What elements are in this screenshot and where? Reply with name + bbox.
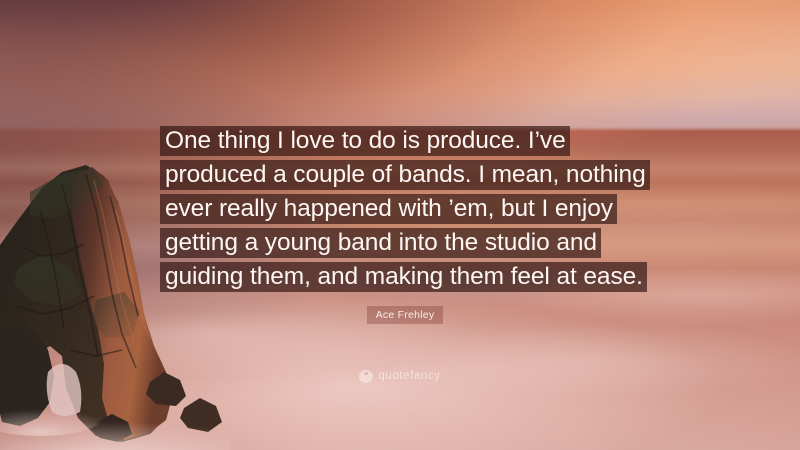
watermark-label: quotefancy bbox=[378, 370, 440, 382]
quote-line-text: produced a couple of bands. I mean, noth… bbox=[160, 160, 650, 190]
watermark-inner: “ quotefancy bbox=[359, 370, 440, 383]
author-name: Ace Frehley bbox=[367, 306, 444, 324]
author-attribution: Ace Frehley bbox=[160, 305, 650, 324]
quote-line: getting a young band into the studio and bbox=[160, 228, 650, 258]
quote-line-text: getting a young band into the studio and bbox=[160, 228, 601, 258]
watermark: “ quotefancy bbox=[0, 365, 800, 383]
quote-poster: One thing I love to do is produce. I’ve … bbox=[0, 0, 800, 450]
quote-line: One thing I love to do is produce. I’ve bbox=[160, 126, 650, 156]
quote-line: produced a couple of bands. I mean, noth… bbox=[160, 160, 650, 190]
quote-mark-badge-icon: “ bbox=[359, 370, 373, 383]
quote-line: ever really happened with ’em, but I enj… bbox=[160, 194, 650, 224]
quote-line: guiding them, and making them feel at ea… bbox=[160, 262, 650, 292]
quote-line-text: guiding them, and making them feel at ea… bbox=[160, 262, 647, 292]
quote-text-block: One thing I love to do is produce. I’ve … bbox=[160, 126, 650, 296]
quote-line-text: One thing I love to do is produce. I’ve bbox=[160, 126, 570, 156]
quote-line-text: ever really happened with ’em, but I enj… bbox=[160, 194, 617, 224]
